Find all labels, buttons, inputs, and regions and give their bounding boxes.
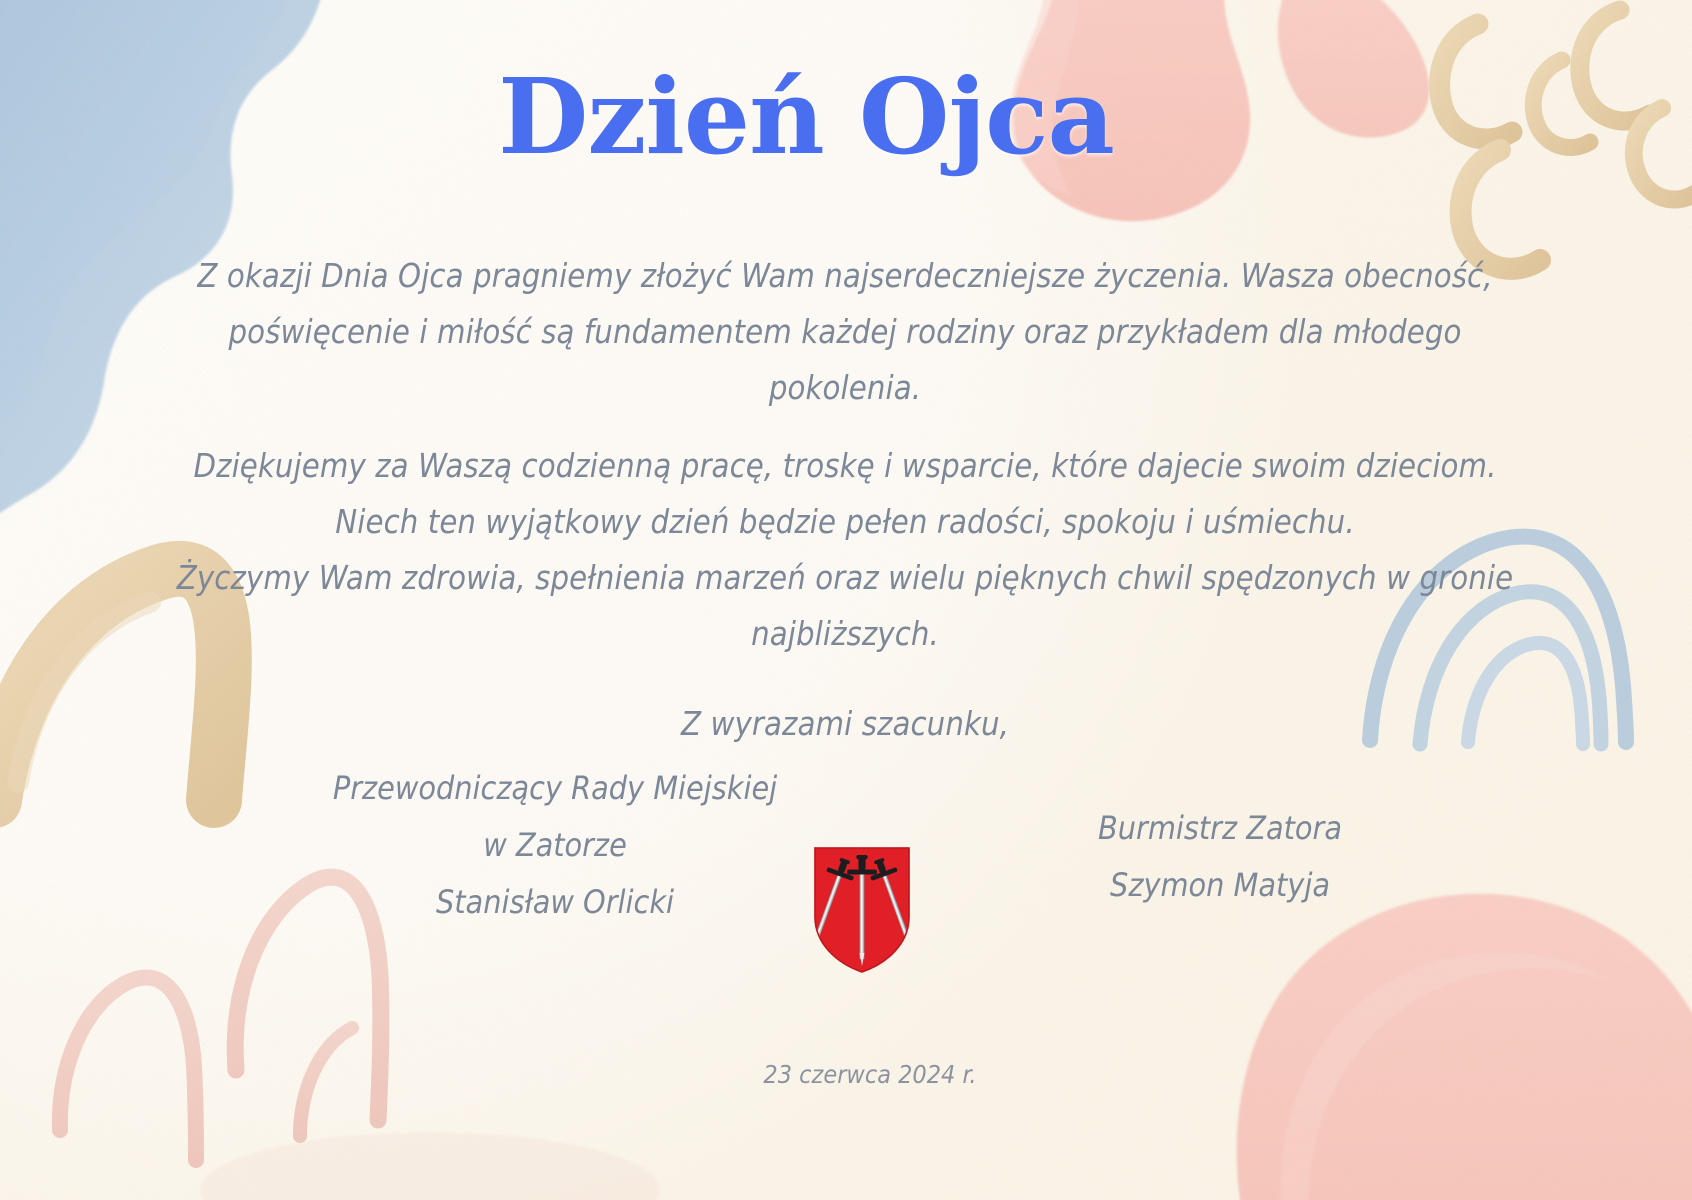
date-text: 23 czerwca 2024 r. [620, 1060, 1120, 1089]
paragraph-5: Z wyrazami szacunku, [170, 696, 1520, 752]
paragraph-1: Z okazji Dnia Ojca pragniemy złożyć Wam … [170, 248, 1520, 416]
chairman-title: Przewodniczący Rady Miejskiej [205, 760, 905, 817]
paragraph-4: Życzymy Wam zdrowia, spełnienia marzeń o… [170, 550, 1520, 662]
page-title: Dzień Ojca [0, 62, 1692, 171]
paragraph-3: Niech ten wyjątkowy dzień będzie pełen r… [170, 494, 1520, 550]
signature-block-chairman: Przewodniczący Rady Miejskiej w Zatorze … [205, 760, 905, 931]
zator-coat-of-arms-icon [812, 845, 912, 975]
chairman-name: Stanisław Orlicki [205, 874, 905, 931]
paragraph-2: Dziękujemy za Waszą codzienną pracę, tro… [170, 438, 1520, 494]
chairman-place: w Zatorze [205, 817, 905, 874]
greeting-card: Dzień Ojca Z okazji Dnia Ojca pragniemy … [0, 0, 1692, 1200]
mayor-name: Szymon Matyja [880, 857, 1560, 914]
mayor-title: Burmistrz Zatora [880, 800, 1560, 857]
message-body: Z okazji Dnia Ojca pragniemy złożyć Wam … [170, 248, 1520, 752]
signature-block-mayor: Burmistrz Zatora Szymon Matyja [880, 800, 1560, 914]
